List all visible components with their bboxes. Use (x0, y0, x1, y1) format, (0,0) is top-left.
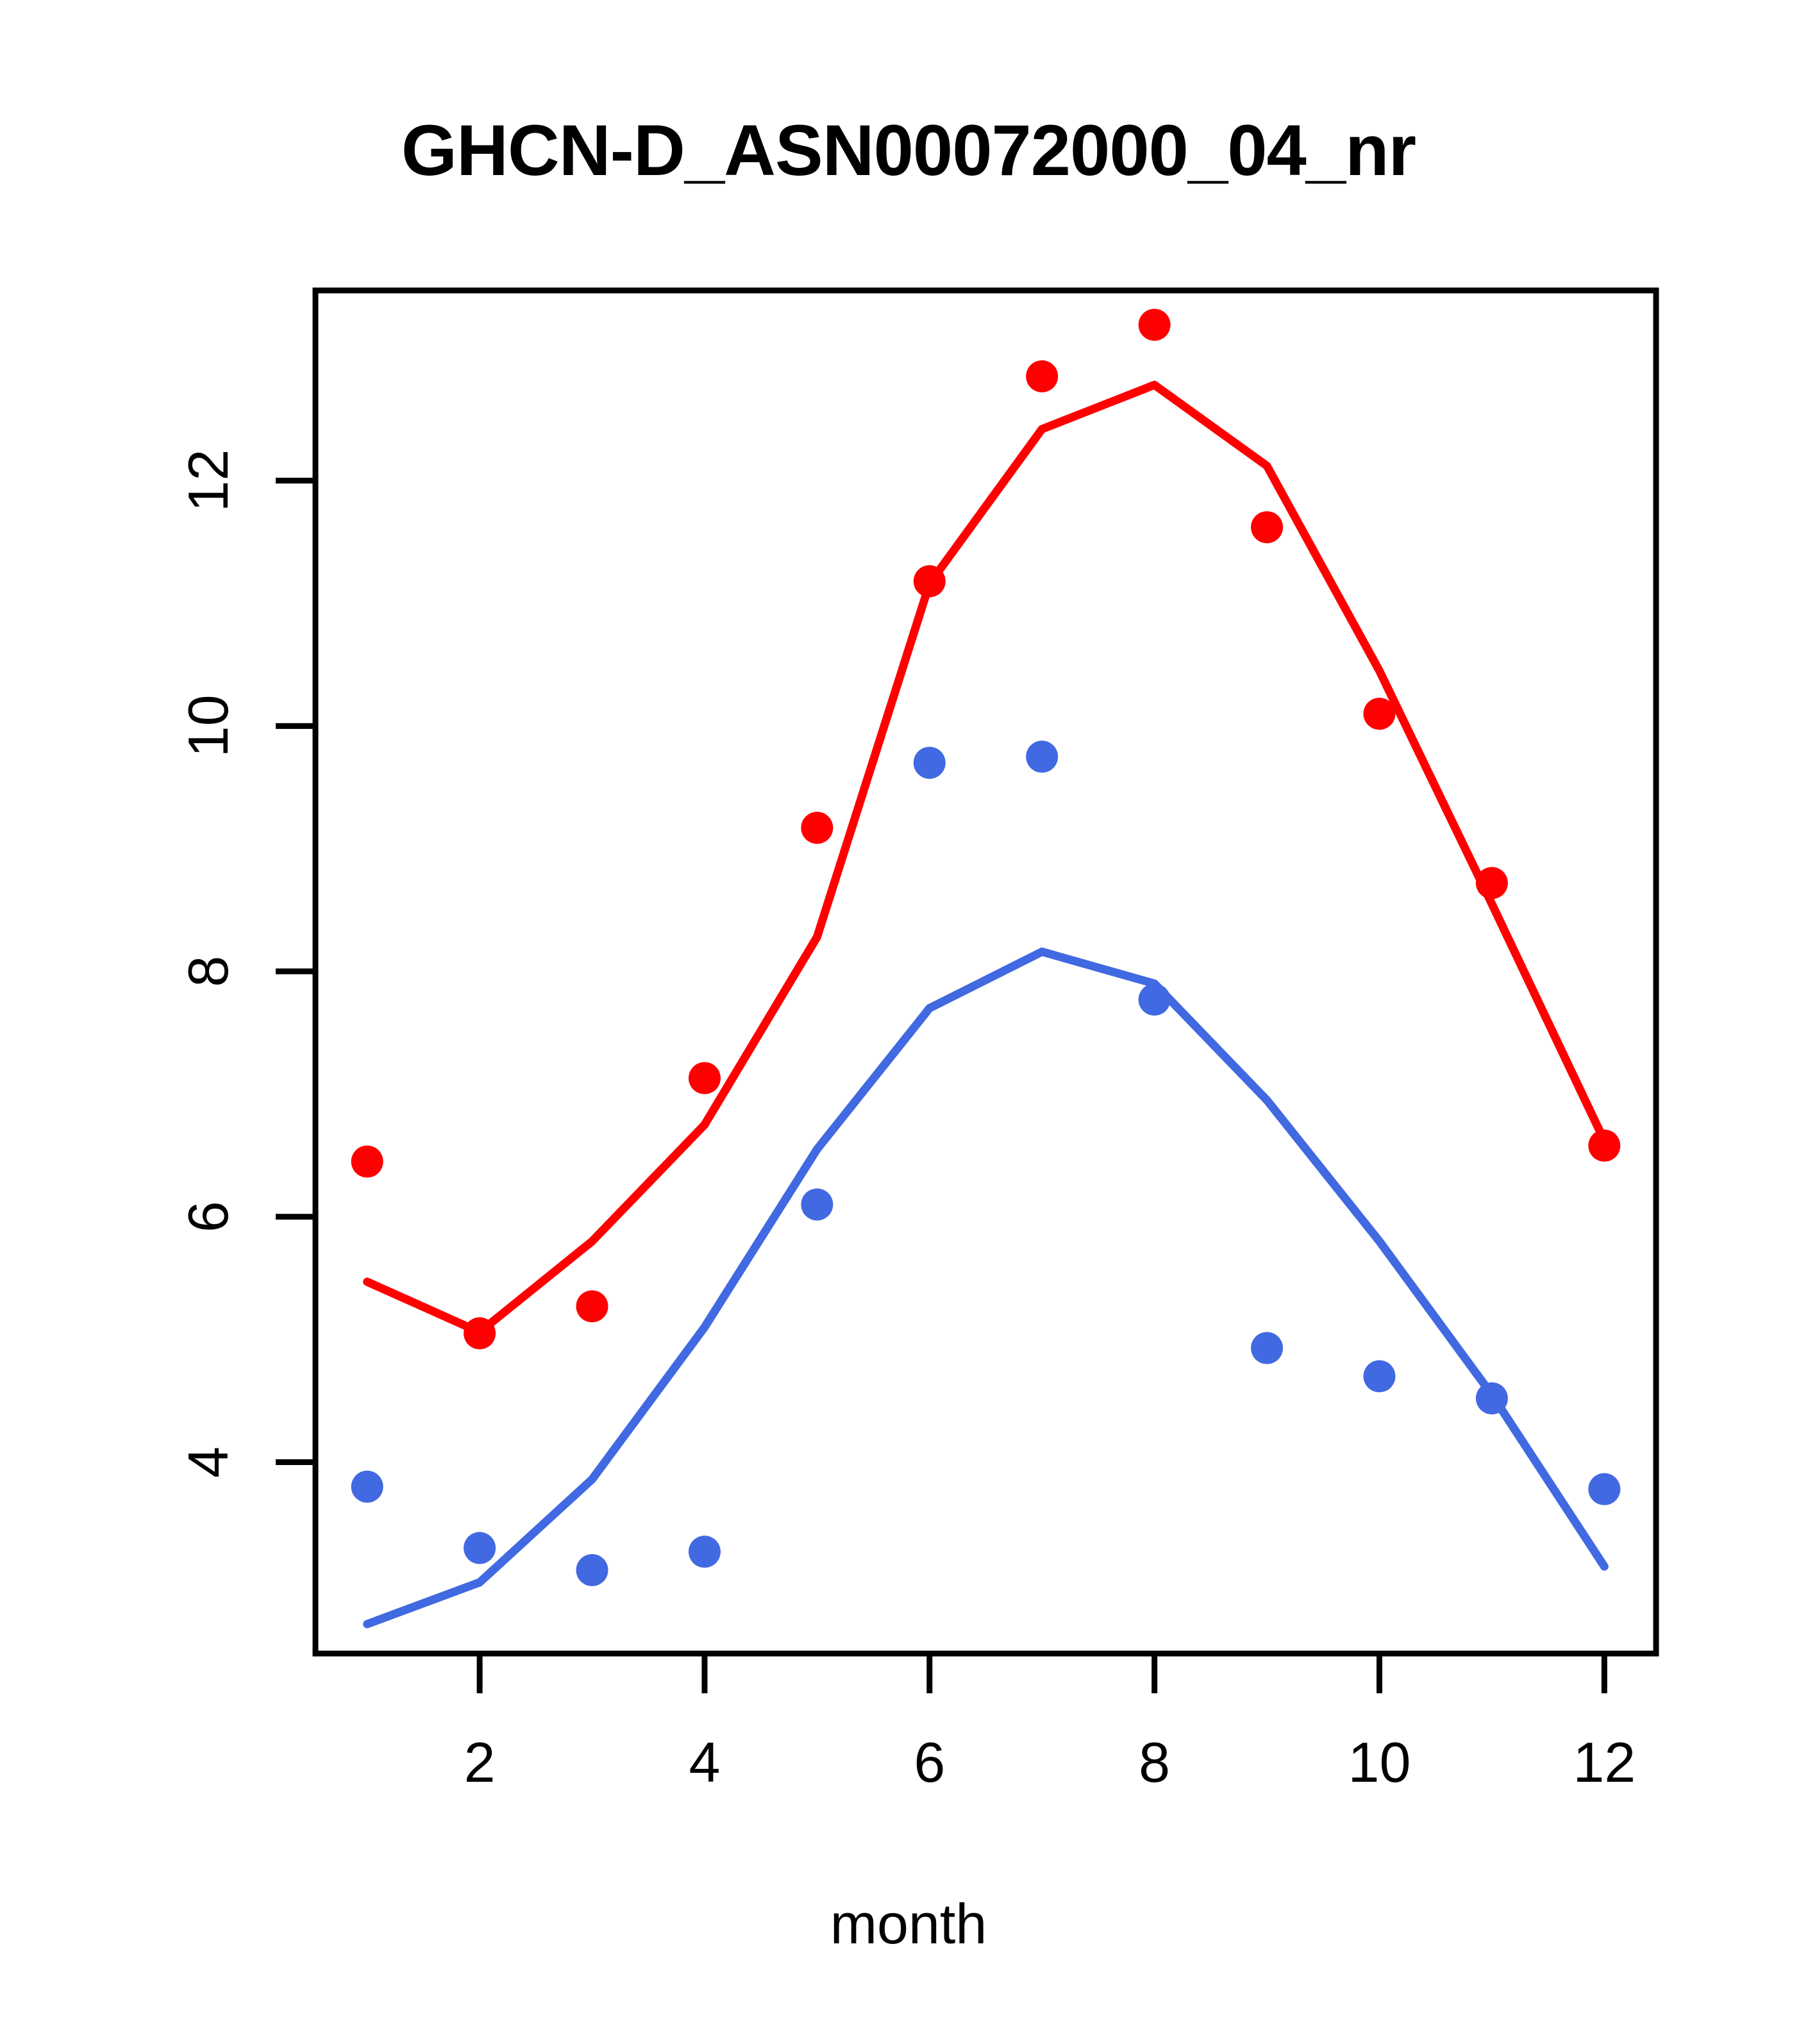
data-point-red-points (1588, 1130, 1620, 1162)
x-axis-label: month (0, 1891, 1817, 1957)
series-line-red-line (367, 385, 1605, 1332)
data-point-blue-points (1476, 1382, 1508, 1414)
data-point-blue-points (1363, 1361, 1395, 1393)
x-tick-labels: 24681012 (464, 1730, 1636, 1794)
x-tick-label: 10 (1348, 1730, 1411, 1794)
data-point-blue-points (576, 1554, 608, 1586)
x-tick-label: 6 (914, 1730, 945, 1794)
chart-canvas: 24681012 4681012 (0, 0, 1817, 2044)
x-tick-label: 4 (689, 1730, 720, 1794)
plot-frame (315, 290, 1656, 1654)
data-point-red-points (1251, 511, 1283, 543)
y-axis-ticks (276, 481, 315, 1462)
data-point-red-points (689, 1062, 721, 1094)
data-point-red-points (1363, 698, 1395, 730)
y-tick-label: 12 (176, 449, 240, 512)
x-axis-ticks (480, 1654, 1604, 1693)
data-point-red-points (464, 1318, 496, 1350)
data-point-blue-points (914, 747, 946, 779)
data-point-blue-points (1588, 1473, 1620, 1505)
x-tick-label: 12 (1573, 1730, 1636, 1794)
y-tick-label: 10 (176, 694, 240, 757)
data-point-red-points (801, 812, 833, 844)
data-point-red-points (576, 1290, 608, 1322)
chart-figure: GHCN-D_ASN00072000_04_nr 24681012 468101… (0, 0, 1817, 2044)
data-point-blue-points (1139, 984, 1171, 1016)
x-tick-label: 8 (1139, 1730, 1170, 1794)
data-point-red-points (914, 565, 946, 598)
data-point-red-points (1026, 360, 1058, 392)
data-point-blue-points (801, 1189, 833, 1221)
data-point-blue-points (1026, 741, 1058, 773)
data-point-blue-points (689, 1536, 721, 1568)
data-point-blue-points (351, 1471, 383, 1503)
y-tick-label: 6 (176, 1201, 240, 1232)
series-line-blue-line (367, 951, 1605, 1624)
data-point-blue-points (1251, 1332, 1283, 1364)
series-lines (367, 385, 1605, 1624)
data-point-blue-points (464, 1532, 496, 1564)
y-tick-label: 8 (176, 956, 240, 987)
data-point-red-points (1139, 309, 1171, 341)
x-tick-label: 2 (464, 1730, 496, 1794)
data-point-red-points (1476, 867, 1508, 899)
y-tick-labels: 4681012 (176, 449, 240, 1478)
data-point-red-points (351, 1146, 383, 1178)
y-tick-label: 4 (176, 1446, 240, 1478)
